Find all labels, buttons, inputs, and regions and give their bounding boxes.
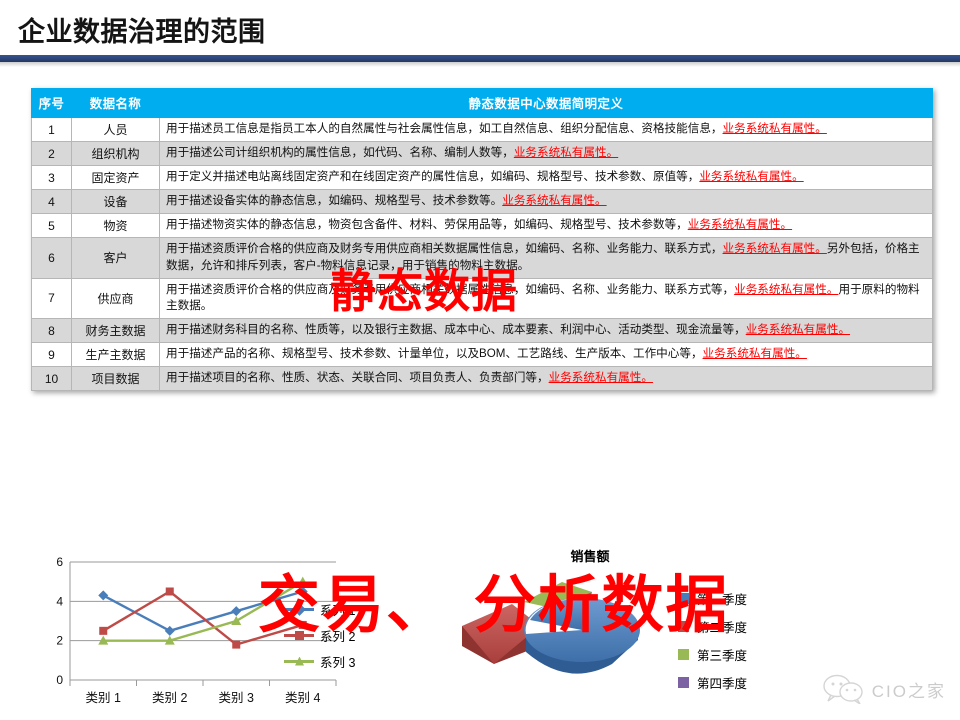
- q3-swatch: [678, 649, 689, 660]
- x-axis-tick: 类别 1: [86, 691, 121, 705]
- definition-text: 用于描述项目的名称、性质、状态、关联合同、项目负责人、负责部门等，: [166, 371, 549, 384]
- table-row: 7供应商用于描述资质评价合格的供应商及财务专用供应商相关数据属性信息，如编码、名…: [32, 278, 933, 319]
- cell-no: 6: [32, 238, 72, 279]
- title-divider: [0, 55, 960, 62]
- data-point: [232, 641, 240, 649]
- definition-highlight: 业务系统私有属性。: [723, 242, 827, 255]
- cell-data-name: 人员: [72, 118, 160, 142]
- legend-label: 第四季度: [697, 673, 747, 692]
- definition-text: 用于描述公司计组织机构的属性信息，如代码、名称、编制人数等，: [166, 146, 514, 159]
- cell-definition: 用于描述产品的名称、规格型号、技术参数、计量单位，以及BOM、工艺路线、生产版本…: [160, 343, 933, 367]
- cell-data-name: 供应商: [72, 278, 160, 319]
- watermark-label: CIO之家: [872, 677, 946, 702]
- definition-highlight: 业务系统私有属性。: [699, 170, 803, 183]
- legend-label: 第二季度: [697, 617, 747, 636]
- watermark: CIO之家: [823, 674, 946, 704]
- cell-no: 3: [32, 166, 72, 190]
- cell-no: 1: [32, 118, 72, 142]
- q2-swatch: [678, 621, 689, 632]
- table-row: 6客户用于描述资质评价合格的供应商及财务专用供应商相关数据属性信息，如编码、名称…: [32, 238, 933, 279]
- definition-highlight: 业务系统私有属性。: [549, 371, 653, 384]
- data-scope-table-wrapper: 序号 数据名称 静态数据中心数据简明定义 1人员用于描述员工信息是指员工本人的自…: [31, 88, 933, 391]
- column-header-name: 数据名称: [72, 89, 160, 118]
- cell-no: 7: [32, 278, 72, 319]
- definition-highlight: 业务系统私有属性。: [746, 323, 850, 336]
- cell-no: 10: [32, 367, 72, 391]
- cell-definition: 用于描述资质评价合格的供应商及财务专用供应商相关数据属性信息，如编码、名称、业务…: [160, 238, 933, 279]
- table-row: 5物资用于描述物资实体的静态信息，物资包含备件、材料、劳保用品等，如编码、规格型…: [32, 214, 933, 238]
- cell-definition: 用于描述公司计组织机构的属性信息，如代码、名称、编制人数等，业务系统私有属性。: [160, 142, 933, 166]
- cell-data-name: 财务主数据: [72, 319, 160, 343]
- legend-label: 系列 3: [320, 652, 355, 671]
- x-axis-tick: 类别 2: [152, 691, 187, 705]
- definition-text: 用于定义并描述电站离线固定资产和在线固定资产的属性信息，如编码、规格型号、技术参…: [166, 170, 699, 183]
- definition-text: 用于描述设备实体的静态信息，如编码、规格型号、技术参数等。: [166, 194, 502, 207]
- cell-data-name: 物资: [72, 214, 160, 238]
- table-row: 9生产主数据用于描述产品的名称、规格型号、技术参数、计量单位，以及BOM、工艺路…: [32, 343, 933, 367]
- cell-no: 8: [32, 319, 72, 343]
- y-axis-tick: 6: [56, 555, 63, 569]
- y-axis-tick: 4: [56, 594, 63, 608]
- data-point: [166, 588, 174, 596]
- series-1-swatch: [284, 608, 314, 611]
- table-row: 10项目数据用于描述项目的名称、性质、状态、关联合同、项目负责人、负责部门等，业…: [32, 367, 933, 391]
- definition-text: 用于描述资质评价合格的供应商及财务专用供应商相关数据属性信息，如编码、名称、业务…: [166, 283, 734, 296]
- data-point: [231, 606, 241, 616]
- definition-highlight: 业务系统私有属性。: [703, 347, 807, 360]
- q4-swatch: [678, 677, 689, 688]
- data-point: [231, 616, 241, 625]
- legend-label: 系列 2: [320, 626, 355, 645]
- cell-data-name: 客户: [72, 238, 160, 279]
- y-axis-tick: 2: [56, 634, 63, 648]
- cell-definition: 用于描述财务科目的名称、性质等，以及银行主数据、成本中心、成本要素、利润中心、活…: [160, 319, 933, 343]
- pie-chart: 销售额: [440, 542, 780, 720]
- cell-no: 5: [32, 214, 72, 238]
- data-point: [99, 627, 107, 635]
- title-divider-shadow: [0, 62, 960, 67]
- data-point: [298, 577, 308, 586]
- definition-highlight: 业务系统私有属性。: [688, 218, 792, 231]
- line-chart-legend: 系列 1 系列 2 系列 3: [284, 596, 355, 674]
- definition-text: 用于描述员工信息是指员工本人的自然属性与社会属性信息，如工自然信息、组织分配信息…: [166, 122, 723, 135]
- x-axis-tick: 类别 4: [285, 691, 320, 705]
- cell-data-name: 设备: [72, 190, 160, 214]
- definition-highlight: 业务系统私有属性。: [723, 122, 827, 135]
- y-axis-tick: 0: [56, 673, 63, 687]
- q1-swatch: [678, 593, 689, 604]
- wechat-icon: [823, 674, 865, 704]
- legend-item: 第四季度: [678, 668, 747, 696]
- legend-label: 系列 1: [320, 600, 355, 619]
- definition-text: 用于描述产品的名称、规格型号、技术参数、计量单位，以及BOM、工艺路线、生产版本…: [166, 347, 703, 360]
- definition-text: 用于描述物资实体的静态信息，物资包含备件、材料、劳保用品等，如编码、规格型号、技…: [166, 218, 688, 231]
- slide-root: 企业数据治理的范围 序号 数据名称 静态数据中心数据简明定义 1人员用于描述员工…: [0, 0, 960, 720]
- table-header-row: 序号 数据名称 静态数据中心数据简明定义: [32, 89, 933, 118]
- data-scope-table: 序号 数据名称 静态数据中心数据简明定义 1人员用于描述员工信息是指员工本人的自…: [31, 88, 933, 391]
- series-3-swatch: [284, 660, 314, 663]
- cell-no: 9: [32, 343, 72, 367]
- data-point: [98, 590, 108, 600]
- column-header-def: 静态数据中心数据简明定义: [160, 89, 933, 118]
- cell-data-name: 项目数据: [72, 367, 160, 391]
- cell-definition: 用于描述资质评价合格的供应商及财务专用供应商相关数据属性信息，如编码、名称、业务…: [160, 278, 933, 319]
- legend-item: 第一季度: [678, 584, 747, 612]
- cell-definition: 用于描述设备实体的静态信息，如编码、规格型号、技术参数等。业务系统私有属性。: [160, 190, 933, 214]
- cell-definition: 用于定义并描述电站离线固定资产和在线固定资产的属性信息，如编码、规格型号、技术参…: [160, 166, 933, 190]
- cell-no: 2: [32, 142, 72, 166]
- charts-area: 0246类别 1类别 2类别 3类别 4 系列 1 系列 2 系列 3 销售额: [0, 540, 960, 720]
- definition-highlight: 业务系统私有属性。: [734, 283, 838, 296]
- table-row: 1人员用于描述员工信息是指员工本人的自然属性与社会属性信息，如工自然信息、组织分…: [32, 118, 933, 142]
- cell-data-name: 生产主数据: [72, 343, 160, 367]
- legend-item: 系列 2: [284, 622, 355, 648]
- cell-definition: 用于描述员工信息是指员工本人的自然属性与社会属性信息，如工自然信息、组织分配信息…: [160, 118, 933, 142]
- pie-chart-legend: 第一季度 第二季度 第三季度 第四季度: [678, 584, 747, 696]
- definition-text: 用于描述资质评价合格的供应商及财务专用供应商相关数据属性信息，如编码、名称、业务…: [166, 242, 723, 255]
- page-title: 企业数据治理的范围: [18, 10, 266, 49]
- pie-chart-title: 销售额: [440, 546, 740, 565]
- cell-data-name: 组织机构: [72, 142, 160, 166]
- series-2-swatch: [284, 634, 314, 637]
- table-row: 2组织机构用于描述公司计组织机构的属性信息，如代码、名称、编制人数等，业务系统私…: [32, 142, 933, 166]
- definition-highlight: 业务系统私有属性。: [514, 146, 618, 159]
- cell-definition: 用于描述物资实体的静态信息，物资包含备件、材料、劳保用品等，如编码、规格型号、技…: [160, 214, 933, 238]
- definition-text: 用于描述财务科目的名称、性质等，以及银行主数据、成本中心、成本要素、利润中心、活…: [166, 323, 746, 336]
- pie-chart-svg: [440, 542, 680, 720]
- series-line-1: [103, 592, 303, 631]
- cell-data-name: 固定资产: [72, 166, 160, 190]
- cell-no: 4: [32, 190, 72, 214]
- table-row: 3固定资产用于定义并描述电站离线固定资产和在线固定资产的属性信息，如编码、规格型…: [32, 166, 933, 190]
- table-row: 4设备用于描述设备实体的静态信息，如编码、规格型号、技术参数等。业务系统私有属性…: [32, 190, 933, 214]
- table-row: 8财务主数据用于描述财务科目的名称、性质等，以及银行主数据、成本中心、成本要素、…: [32, 319, 933, 343]
- legend-item: 系列 3: [284, 648, 355, 674]
- table-body: 1人员用于描述员工信息是指员工本人的自然属性与社会属性信息，如工自然信息、组织分…: [32, 118, 933, 391]
- data-point: [298, 587, 308, 597]
- definition-highlight: 业务系统私有属性。: [502, 194, 606, 207]
- legend-item: 第三季度: [678, 640, 747, 668]
- legend-item: 系列 1: [284, 596, 355, 622]
- data-point: [165, 626, 175, 636]
- legend-item: 第二季度: [678, 612, 747, 640]
- x-axis-tick: 类别 3: [219, 691, 254, 705]
- legend-label: 第一季度: [697, 589, 747, 608]
- legend-label: 第三季度: [697, 645, 747, 664]
- column-header-no: 序号: [32, 89, 72, 118]
- line-chart: 0246类别 1类别 2类别 3类别 4 系列 1 系列 2 系列 3: [36, 552, 366, 720]
- cell-definition: 用于描述项目的名称、性质、状态、关联合同、项目负责人、负责部门等，业务系统私有属…: [160, 367, 933, 391]
